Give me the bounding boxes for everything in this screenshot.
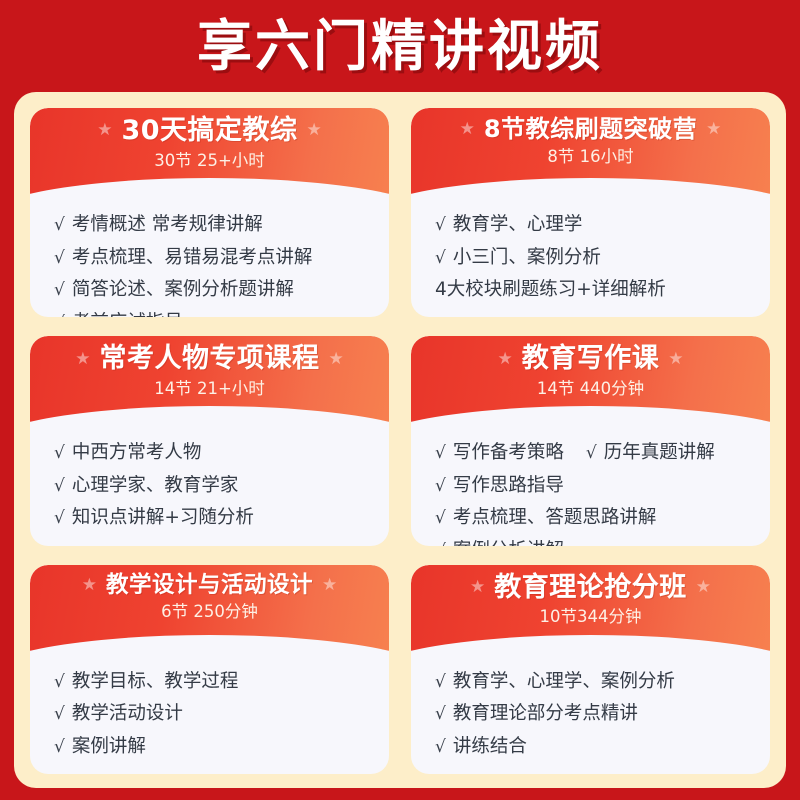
page-title: 享六门精讲视频 xyxy=(197,19,603,74)
feature-item: √ 教育学、心理学、案例分析 xyxy=(435,673,760,692)
feature-item: √ 知识点讲解+习随分析 xyxy=(54,509,379,528)
star-icon-left: ★ xyxy=(75,351,90,368)
course-card-5[interactable]: ★ 教学设计与活动设计 ★ 6节 250分钟 √ 教学目标、教学过程 √ 教学活… xyxy=(30,565,389,774)
card-subtitle: 30节 25+小时 xyxy=(154,153,265,170)
check-icon: √ xyxy=(54,478,65,495)
star-icon-right: ★ xyxy=(322,577,337,594)
feature-label: 中西方常考人物 xyxy=(72,444,202,463)
feature-item: √ 教育学、心理学 xyxy=(435,216,760,235)
card-header: ★ 30天搞定教综 ★ 30节 25+小时 xyxy=(30,108,389,194)
feature-item: √ 教学活动设计 xyxy=(54,705,379,724)
check-icon: √ xyxy=(435,217,446,234)
card-title: 常考人物专项课程 xyxy=(100,344,320,374)
feature-item: √ 写作备考策略 xyxy=(435,444,564,463)
feature-label: 考前应试指号 xyxy=(72,314,183,318)
star-icon-left: ★ xyxy=(470,579,485,596)
feature-item: √ 考点梳理、易错易混考点讲解 xyxy=(54,249,379,268)
star-icon-right: ★ xyxy=(706,121,721,138)
check-icon: √ xyxy=(54,217,65,234)
cards-grid: ★ 30天搞定教综 ★ 30节 25+小时 √ 考情概述 常考规律讲解 √ 考点… xyxy=(30,108,770,774)
banner: 享六门精讲视频 xyxy=(0,0,800,92)
feature-label: 历年真题讲解 xyxy=(604,444,715,463)
card-body: √ 教育学、心理学 √ 小三门、案例分析 4大校块刷题练习+详细解析 xyxy=(411,194,770,317)
card-title-row: ★ 30天搞定教综 ★ xyxy=(30,116,389,146)
feature-label: 教育学、心理学、案例分析 xyxy=(453,673,675,692)
card-header: ★ 教学设计与活动设计 ★ 6节 250分钟 xyxy=(30,565,389,651)
check-icon: √ xyxy=(435,674,446,691)
check-icon: √ xyxy=(435,445,446,462)
check-icon: √ xyxy=(54,315,65,318)
feature-item: 4大校块刷题练习+详细解析 xyxy=(435,281,760,300)
card-title: 30天搞定教综 xyxy=(121,116,297,146)
course-card-1[interactable]: ★ 30天搞定教综 ★ 30节 25+小时 √ 考情概述 常考规律讲解 √ 考点… xyxy=(30,108,389,317)
card-subtitle: 6节 250分钟 xyxy=(161,604,258,621)
check-icon: √ xyxy=(435,510,446,527)
card-title-row: ★ 教学设计与活动设计 ★ xyxy=(30,573,389,598)
check-icon: √ xyxy=(54,739,65,756)
check-icon: √ xyxy=(54,706,65,723)
star-icon-left: ★ xyxy=(460,121,475,138)
card-header: ★ 8节教综刷题突破营 ★ 8节 16小时 xyxy=(411,108,770,194)
feature-item: √ 中西方常考人物 xyxy=(54,444,379,463)
check-icon: √ xyxy=(54,282,65,299)
promo-page: 享六门精讲视频 ★ 30天搞定教综 ★ 30节 25+小时 √ 考情概述 常考规… xyxy=(0,0,800,800)
check-icon: √ xyxy=(586,445,597,462)
feature-label: 小三门、案例分析 xyxy=(453,249,601,268)
card-body: √ 中西方常考人物 √ 心理学家、教育学家 √ 知识点讲解+习随分析 xyxy=(30,422,389,545)
feature-label: 教育学、心理学 xyxy=(453,216,583,235)
feature-item: √ 教学目标、教学过程 xyxy=(54,673,379,692)
check-icon: √ xyxy=(54,674,65,691)
check-icon: √ xyxy=(435,478,446,495)
star-icon-left: ★ xyxy=(82,577,97,594)
feature-label: 案例讲解 xyxy=(72,738,146,757)
star-icon-right: ★ xyxy=(329,351,344,368)
course-card-3[interactable]: ★ 常考人物专项课程 ★ 14节 21+小时 √ 中西方常考人物 √ 心理学家、… xyxy=(30,336,389,545)
check-icon: √ xyxy=(54,510,65,527)
feature-item: √ 考情概述 常考规律讲解 xyxy=(54,216,379,235)
cards-panel: ★ 30天搞定教综 ★ 30节 25+小时 √ 考情概述 常考规律讲解 √ 考点… xyxy=(14,92,786,788)
feature-item: √ 考前应试指号 xyxy=(54,314,379,318)
card-title: 教育写作课 xyxy=(522,344,660,374)
feature-label: 教学活动设计 xyxy=(72,705,183,724)
feature-label: 心理学家、教育学家 xyxy=(72,477,239,496)
feature-row: √ 写作备考策略 √ 历年真题讲解 xyxy=(435,444,760,463)
feature-item: √ 简答论述、案例分析题讲解 xyxy=(54,281,379,300)
feature-item: √ 讲练结合 xyxy=(435,738,760,757)
card-subtitle: 8节 16小时 xyxy=(547,149,633,166)
course-card-2[interactable]: ★ 8节教综刷题突破营 ★ 8节 16小时 √ 教育学、心理学 √ 小三门、案例… xyxy=(411,108,770,317)
card-title: 教学设计与活动设计 xyxy=(106,573,313,598)
card-title: 8节教综刷题突破营 xyxy=(484,116,697,142)
feature-label: 考情概述 常考规律讲解 xyxy=(72,216,263,235)
card-title-row: ★ 教育理论抢分班 ★ xyxy=(411,573,770,603)
card-title-row: ★ 教育写作课 ★ xyxy=(411,344,770,374)
feature-item: √ 案例分析讲解 xyxy=(435,542,760,546)
feature-label: 写作备考策略 xyxy=(453,444,564,463)
card-body: √ 写作备考策略 √ 历年真题讲解 √ 写作思路指导 √ xyxy=(411,422,770,545)
course-card-6[interactable]: ★ 教育理论抢分班 ★ 10节344分钟 √ 教育学、心理学、案例分析 √ 教育… xyxy=(411,565,770,774)
card-body: √ 考情概述 常考规律讲解 √ 考点梳理、易错易混考点讲解 √ 简答论述、案例分… xyxy=(30,194,389,317)
course-card-4[interactable]: ★ 教育写作课 ★ 14节 440分钟 √ 写作备考策略 √ xyxy=(411,336,770,545)
feature-label: 考点梳理、答题思路讲解 xyxy=(453,509,657,528)
check-icon: √ xyxy=(54,445,65,462)
star-icon-right: ★ xyxy=(307,122,322,139)
card-title: 教育理论抢分班 xyxy=(494,573,687,603)
card-subtitle: 10节344分钟 xyxy=(540,609,642,626)
card-header: ★ 教育写作课 ★ 14节 440分钟 xyxy=(411,336,770,422)
star-icon-right: ★ xyxy=(696,579,711,596)
feature-item: √ 案例讲解 xyxy=(54,738,379,757)
feature-label: 写作思路指导 xyxy=(453,477,564,496)
card-body: √ 教育学、心理学、案例分析 √ 教育理论部分考点精讲 √ 讲练结合 xyxy=(411,651,770,774)
feature-label: 教学目标、教学过程 xyxy=(72,673,239,692)
star-icon-right: ★ xyxy=(668,351,683,368)
feature-item: √ 历年真题讲解 xyxy=(586,444,715,463)
check-icon: √ xyxy=(435,250,446,267)
feature-item: √ 写作思路指导 xyxy=(435,477,760,496)
feature-label: 考点梳理、易错易混考点讲解 xyxy=(72,249,313,268)
feature-label: 案例分析讲解 xyxy=(453,542,564,546)
feature-item: √ 考点梳理、答题思路讲解 xyxy=(435,509,760,528)
card-title-row: ★ 常考人物专项课程 ★ xyxy=(30,344,389,374)
card-subtitle: 14节 440分钟 xyxy=(537,381,644,398)
check-icon: √ xyxy=(435,706,446,723)
check-icon: √ xyxy=(54,250,65,267)
feature-label: 简答论述、案例分析题讲解 xyxy=(72,281,294,300)
feature-item: √ 教育理论部分考点精讲 xyxy=(435,705,760,724)
feature-label: 4大校块刷题练习+详细解析 xyxy=(435,281,666,300)
star-icon-left: ★ xyxy=(97,122,112,139)
card-body: √ 教学目标、教学过程 √ 教学活动设计 √ 案例讲解 xyxy=(30,651,389,774)
card-header: ★ 教育理论抢分班 ★ 10节344分钟 xyxy=(411,565,770,651)
feature-label: 知识点讲解+习随分析 xyxy=(72,509,254,528)
card-title-row: ★ 8节教综刷题突破营 ★ xyxy=(411,116,770,142)
feature-label: 教育理论部分考点精讲 xyxy=(453,705,638,724)
check-icon: √ xyxy=(435,739,446,756)
feature-item: √ 心理学家、教育学家 xyxy=(54,477,379,496)
star-icon-left: ★ xyxy=(498,351,513,368)
check-icon: √ xyxy=(435,543,446,546)
feature-label: 讲练结合 xyxy=(453,738,527,757)
card-header: ★ 常考人物专项课程 ★ 14节 21+小时 xyxy=(30,336,389,422)
card-subtitle: 14节 21+小时 xyxy=(154,381,265,398)
feature-item: √ 小三门、案例分析 xyxy=(435,249,760,268)
